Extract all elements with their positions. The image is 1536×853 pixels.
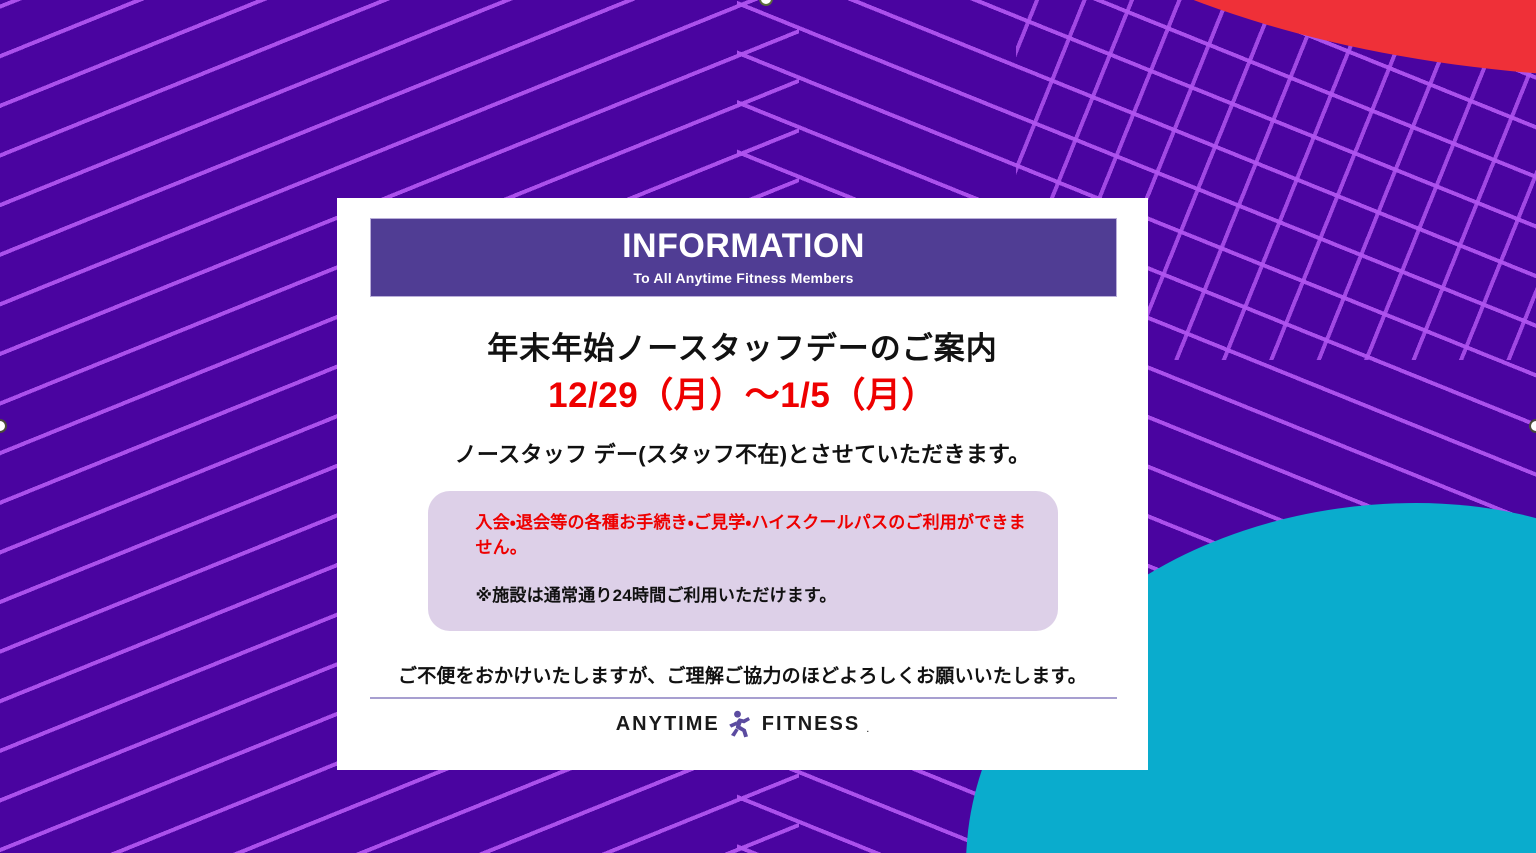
logo-word-anytime: ANYTIME [616,713,720,736]
footer-divider [370,697,1117,699]
lead-text: ノースタッフ デー(スタッフ不在)とさせていただきます。 [337,437,1148,469]
headline-text: 年末年始ノースタッフデーのご案内 [337,330,1148,367]
notice-note-text: ※施設は通常通り24時間ご利用いただけます。 [476,584,1028,609]
banner-title: INFORMATION [622,229,865,265]
anytime-fitness-logo: ANYTIME FITNESS . [337,710,1148,738]
date-range-text: 12/29（月）〜1/5（月） [337,375,1148,417]
card-body: 年末年始ノースタッフデーのご案内 12/29（月）〜1/5（月） ノースタッフ … [337,308,1148,688]
banner-subtitle: To All Anytime Fitness Members [633,270,853,286]
notice-box: 入会・退会等の各種お手続き・ご見学・ハイスクールパスのご利用ができません。 ※施… [428,491,1058,631]
notice-warning-text: 入会・退会等の各種お手続き・ご見学・ハイスクールパスのご利用ができません。 [476,511,1028,560]
logo-word-fitness: FITNESS [762,713,860,736]
information-card: INFORMATION To All Anytime Fitness Membe… [337,198,1148,770]
running-man-icon [726,710,756,738]
edge-dot-right [1529,419,1536,433]
slide-canvas: INFORMATION To All Anytime Fitness Membe… [0,0,1536,853]
closing-text: ご不便をおかけいたしますが、ご理解ご協力のほどよろしくお願いいたします。 [337,661,1148,688]
information-banner: INFORMATION To All Anytime Fitness Membe… [370,218,1117,297]
logo-trademark: . [866,723,869,738]
